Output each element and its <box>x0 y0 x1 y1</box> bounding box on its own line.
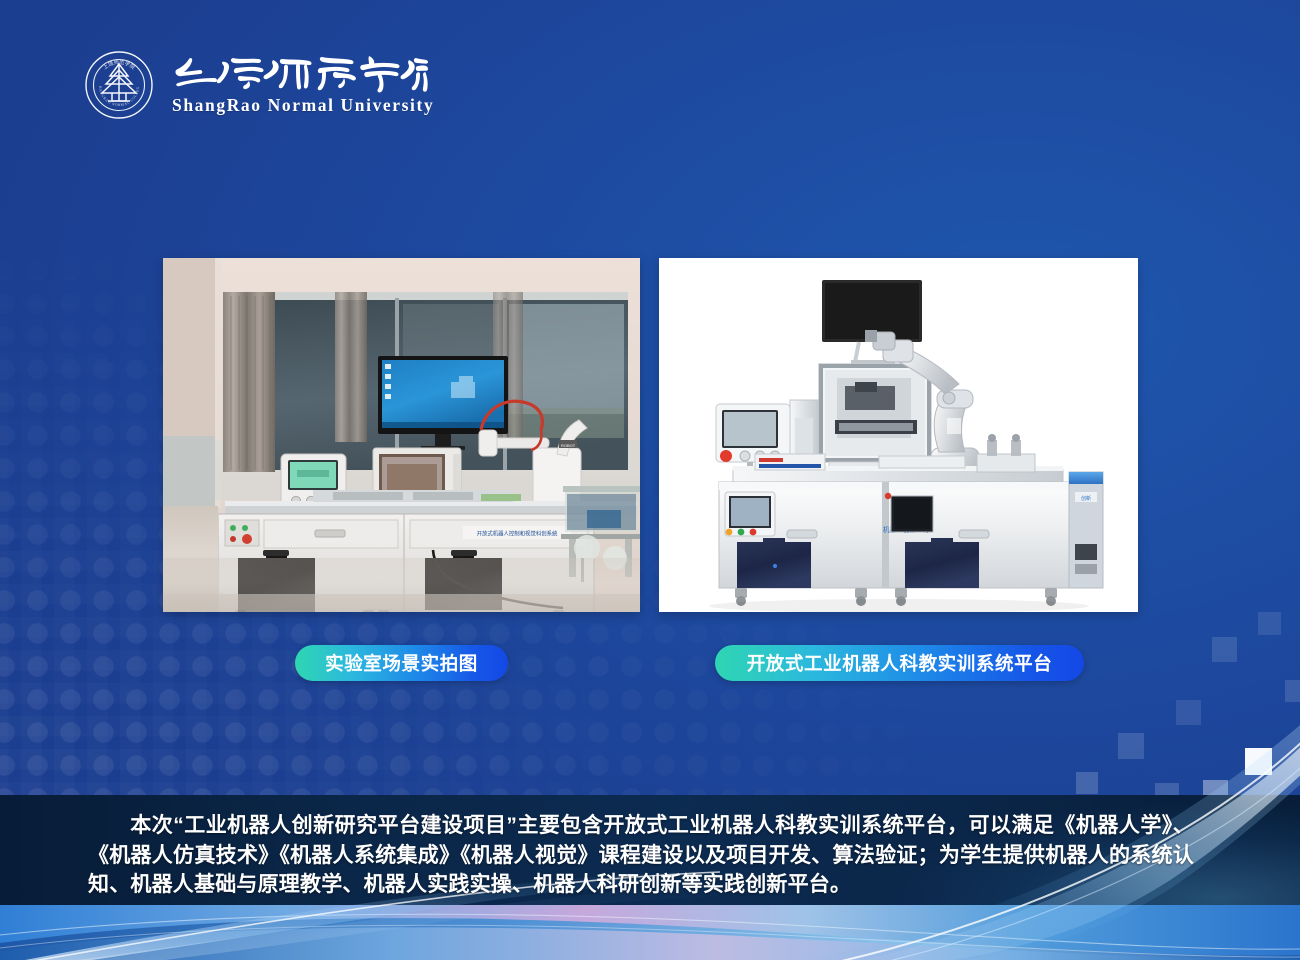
product-cabinet: 机器人创新工坊 创新 <box>719 472 1103 606</box>
decor-square <box>1176 700 1201 725</box>
svg-text:开放式机器人控制和视觉科创系统: 开放式机器人控制和视觉科创系统 <box>477 530 558 538</box>
decor-square <box>1118 733 1144 759</box>
caption-pill-platform[interactable]: 开放式工业机器人科教实训系统平台 <box>715 645 1084 681</box>
decor-square <box>1212 637 1237 662</box>
university-seal-icon: 上饶师范学院 SHANGRAO NORMAL COLLEGE <box>84 50 154 120</box>
svg-text:ROBOT: ROBOT <box>561 443 576 448</box>
decor-square <box>1285 680 1300 702</box>
paragraph-text: 本次“工业机器人创新研究平台建设项目”主要包含开放式工业机器人科教实训系统平台，… <box>88 814 1194 896</box>
product-render-graphic: 机器人创新工坊 创新 <box>659 258 1138 612</box>
caption-label-platform: 开放式工业机器人科教实训系统平台 <box>747 650 1053 676</box>
decor-square <box>1258 612 1281 635</box>
wave-graphic <box>0 905 1300 960</box>
lab-photo-graphic: ROBOT 开放式机器人控制和视觉科创系统 <box>163 258 640 612</box>
product-render-photo[interactable]: 机器人创新工坊 创新 <box>659 258 1138 612</box>
lab-photo[interactable]: ROBOT 开放式机器人控制和视觉科创系统 <box>163 258 640 612</box>
decor-square <box>1076 772 1098 794</box>
university-logo: 上饶师范学院 SHANGRAO NORMAL COLLEGE <box>84 50 424 122</box>
caption-pill-lab[interactable]: 实验室场景实拍图 <box>295 645 508 681</box>
svg-text:创新: 创新 <box>1081 495 1091 502</box>
bottom-wave-band <box>0 905 1300 960</box>
university-wordmark: ShangRao Normal University <box>170 48 428 122</box>
caption-label-lab: 实验室场景实拍图 <box>325 650 478 676</box>
decor-square <box>1245 748 1272 775</box>
university-name-english: ShangRao Normal University <box>172 95 428 116</box>
university-name-chinese <box>170 48 428 94</box>
description-paragraph: 本次“工业机器人创新研究平台建设项目”主要包含开放式工业机器人科教实训系统平台，… <box>88 811 1194 900</box>
